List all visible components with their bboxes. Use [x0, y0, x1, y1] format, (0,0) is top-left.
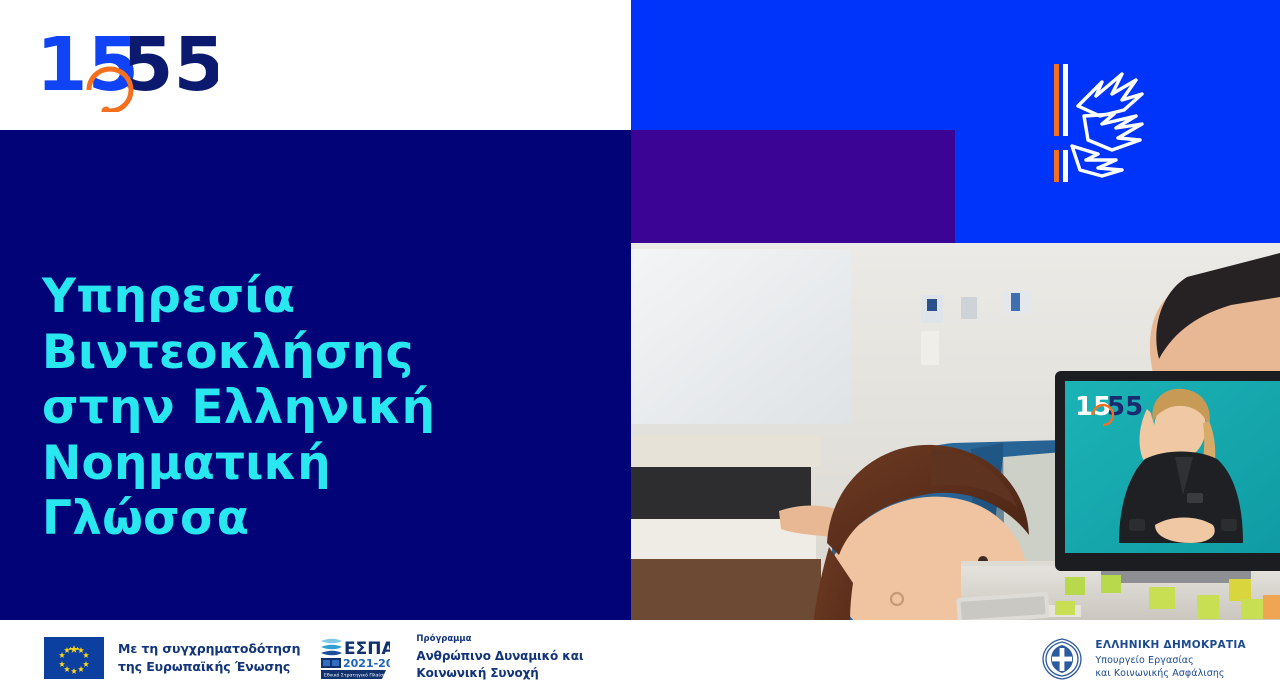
- government-text: ΕΛΛΗΝΙΚΗ ΔΗΜΟΚΡΑΤΙΑ Υπουργείο Εργασίας κ…: [1095, 638, 1246, 680]
- monitor-stand-neck: [1101, 571, 1251, 583]
- wall-bottle: [921, 331, 939, 365]
- wall-note-2: [961, 297, 977, 319]
- wall-note-1-detail: [927, 299, 937, 311]
- footer-government-group: ΕΛΛΗΝΙΚΗ ΔΗΜΟΚΡΑΤΙΑ Υπουργείο Εργασίας κ…: [1039, 636, 1246, 682]
- programme-kicker: Πρόγραμμα: [416, 634, 583, 646]
- orange-bar-top: [1054, 64, 1059, 136]
- chair-armrest-left: [1129, 519, 1145, 531]
- chair-armrest-right: [1221, 519, 1237, 531]
- computer-monitor: 15 55: [1049, 243, 1280, 583]
- sticky-note: [1241, 599, 1265, 619]
- espa-logo: ΕΣΠΑ 2021-2027 Εθνικό Στρατηγικό Πλαίσιο…: [320, 635, 390, 681]
- programme-title: Ανθρώπινο Δυναμικό και Κοινωνική Συνοχή: [416, 648, 583, 682]
- whiteboard: [631, 249, 851, 424]
- government-title: ΕΛΛΗΝΙΚΗ ΔΗΜΟΚΡΑΤΙΑ: [1095, 638, 1246, 653]
- sticky-note: [1197, 595, 1219, 619]
- hands-sign-language-icon: [1050, 58, 1180, 188]
- screen-logo-1555: 15 55: [1075, 392, 1143, 425]
- greek-coat-of-arms-icon: [1039, 636, 1085, 682]
- svg-text:Εθνικό Στρατηγικό Πλαίσιο Αναφ: Εθνικό Στρατηγικό Πλαίσιο Αναφοράς: [324, 671, 390, 678]
- programme-block: Πρόγραμμα Ανθρώπινο Δυναμικό και Κοινωνι…: [416, 634, 583, 681]
- orange-bar-bottom: [1054, 150, 1059, 182]
- floor-strip: [631, 559, 821, 620]
- sticky-note: [1149, 587, 1175, 609]
- counter-top: [631, 435, 821, 467]
- sticky-note: [1055, 601, 1075, 615]
- svg-text:ΕΣΠΑ: ΕΣΠΑ: [344, 639, 390, 659]
- svg-text:2021-2027: 2021-2027: [343, 657, 390, 670]
- eu-funding-text: Με τη συγχρηματοδότηση της Ευρωπαϊκής Έν…: [118, 640, 300, 676]
- sticky-note: [1101, 575, 1121, 593]
- white-bar-bottom: [1063, 150, 1068, 182]
- interpreter-badge: [1187, 493, 1203, 503]
- wall-note-3-detail: [1011, 293, 1020, 311]
- purple-accent-block: [631, 130, 955, 243]
- sticky-note: [1263, 595, 1280, 619]
- footer-bar: Με τη συγχρηματοδότηση της Ευρωπαϊκής Έν…: [0, 620, 1280, 700]
- sticky-note: [1065, 577, 1085, 595]
- white-bar-top: [1063, 64, 1068, 136]
- logo-digits-secondary: 55: [122, 26, 218, 108]
- eu-flag-icon: [44, 637, 104, 679]
- page-title: Υπηρεσία Βιντεοκλήσης στην Ελληνική Νοημ…: [42, 269, 602, 546]
- footer-eu-group: Με τη συγχρηματοδότηση της Ευρωπαϊκής Έν…: [44, 634, 583, 681]
- hero-photo: 15 55: [631, 243, 1280, 620]
- poster-canvas: 15 55 Υπηρεσία Βι: [0, 0, 1280, 700]
- government-subtitle: Υπουργείο Εργασίας και Κοινωνικής Ασφάλι…: [1095, 654, 1246, 681]
- sticky-note: [1229, 579, 1251, 601]
- logo-1555[interactable]: 15 55: [38, 26, 218, 112]
- svg-text:15: 15: [1075, 392, 1111, 422]
